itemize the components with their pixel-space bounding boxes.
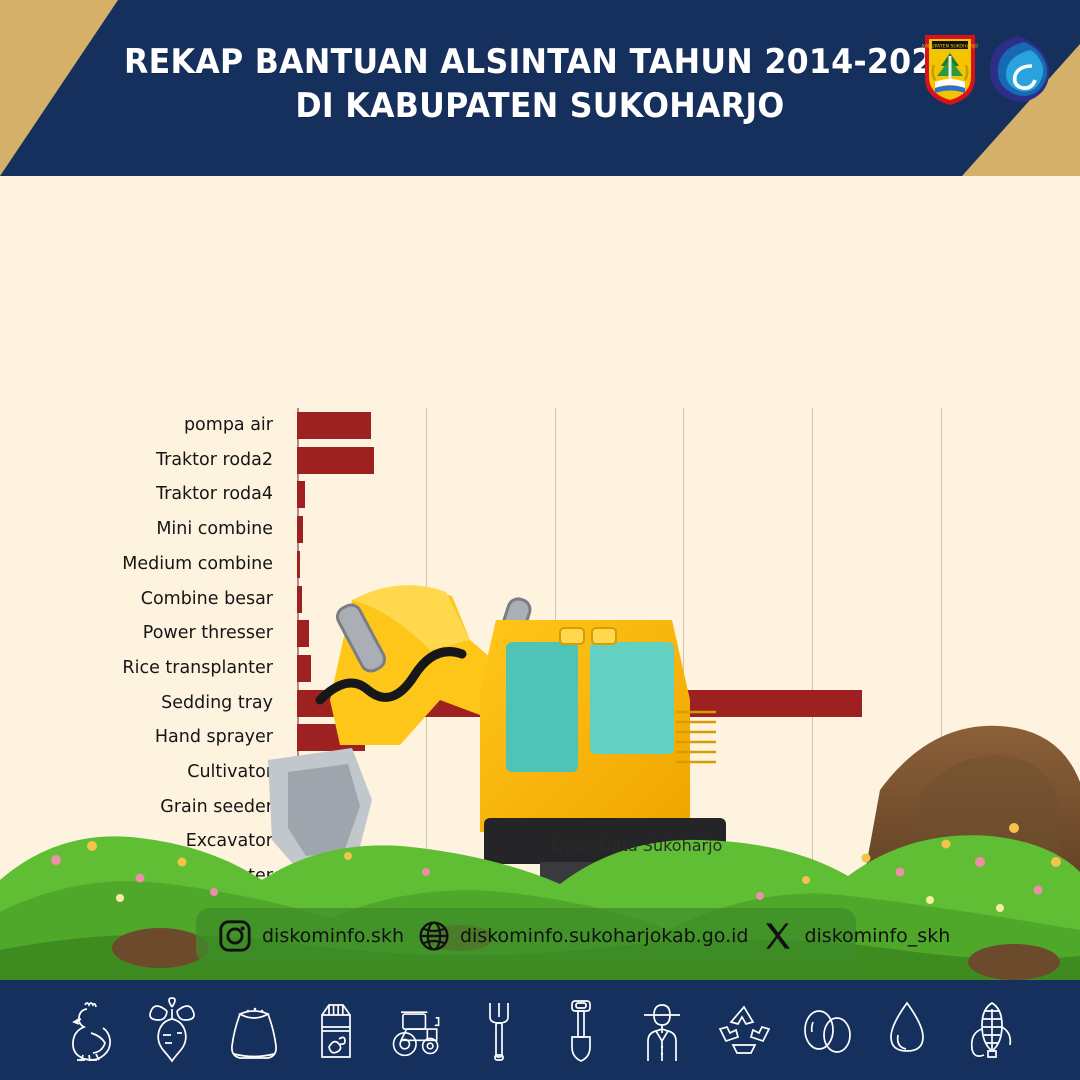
- bar: [297, 724, 365, 751]
- bar-row: Hand sprayer: [297, 720, 977, 755]
- bar: [297, 551, 300, 578]
- pitchfork-icon: [468, 994, 530, 1066]
- footer-icon-strip: [0, 980, 1080, 1080]
- category-label: Sedding tray: [0, 686, 285, 721]
- svg-text:KABUPATEN SUKOHARJO: KABUPATEN SUKOHARJO: [922, 44, 978, 50]
- header-navy-shape: [0, 0, 1080, 176]
- category-label: Traktor roda4: [0, 477, 285, 512]
- chicken-icon: [60, 994, 122, 1066]
- instagram-icon: [218, 919, 252, 953]
- chart-region: pompa airTraktor roda2Traktor roda4Mini …: [0, 176, 1080, 856]
- category-label: Riding rice transplanter: [0, 859, 285, 894]
- social-item-x[interactable]: diskominfo_skh: [762, 920, 950, 952]
- sukoharjo-regency-emblem-icon: KABUPATEN SUKOHARJO: [922, 32, 978, 108]
- grain-sack-icon: [223, 994, 285, 1066]
- tractor-icon: [386, 994, 448, 1066]
- bar: [297, 481, 305, 508]
- corn-icon: [958, 994, 1020, 1066]
- header-logos: KABUPATEN SUKOHARJO: [922, 28, 1062, 112]
- category-label: pompa air: [0, 408, 285, 443]
- bar: [297, 516, 303, 543]
- bar: [297, 586, 302, 613]
- bar-row: Traktor roda2: [297, 443, 977, 478]
- beetroot-icon: [141, 994, 203, 1066]
- category-label: Cultivator: [0, 755, 285, 790]
- social-links-bar: diskominfo.skh diskominfo.sukoharjokab.g…: [196, 908, 856, 964]
- bar: [297, 655, 311, 682]
- globe-icon: [418, 920, 450, 952]
- x-twitter-icon: [762, 920, 794, 952]
- infographic-canvas: pompa airTraktor roda2Traktor roda4Mini …: [0, 0, 1080, 1080]
- social-label-instagram: diskominfo.skh: [262, 925, 404, 947]
- category-label: Hand sprayer: [0, 720, 285, 755]
- bar: [297, 620, 309, 647]
- social-item-instagram[interactable]: diskominfo.skh: [218, 919, 404, 953]
- category-label: Excavator: [0, 824, 285, 859]
- bar-row: Mini combine: [297, 512, 977, 547]
- bar: [297, 412, 371, 439]
- bar-row: Cultivator: [297, 755, 977, 790]
- header-banner: REKAP BANTUAN ALSINTAN TAHUN 2014-2024 D…: [0, 0, 1080, 176]
- bar-row: Riding rice transplanter: [297, 859, 977, 894]
- water-drop-icon: [876, 994, 938, 1066]
- eggs-icon: [795, 994, 857, 1066]
- bar-row: Rice transplanter: [297, 651, 977, 686]
- bar-row: Sedding tray: [297, 686, 977, 721]
- bar: [297, 447, 374, 474]
- farmer-icon: [631, 994, 693, 1066]
- social-item-website[interactable]: diskominfo.sukoharjokab.go.id: [418, 920, 748, 952]
- bar-row: pompa air: [297, 408, 977, 443]
- category-label: Traktor roda2: [0, 443, 285, 478]
- category-label: Mini combine: [0, 512, 285, 547]
- bar-row: Grain seeder: [297, 790, 977, 825]
- social-label-website: diskominfo.sukoharjokab.go.id: [460, 925, 748, 947]
- bar-chart-plot: pompa airTraktor roda2Traktor roda4Mini …: [297, 408, 977, 978]
- bar-row: Medium combine: [297, 547, 977, 582]
- bar-row: Traktor roda4: [297, 477, 977, 512]
- category-label: Grain seeder: [0, 790, 285, 825]
- bar-row: Power thresser: [297, 616, 977, 651]
- shovel-icon: [550, 994, 612, 1066]
- recycle-icon: [713, 994, 775, 1066]
- bar: [297, 759, 313, 786]
- kominfo-logo-icon: [984, 34, 1054, 106]
- social-label-x: diskominfo_skh: [804, 925, 950, 947]
- milk-carton-icon: [305, 994, 367, 1066]
- category-label: Combine besar: [0, 582, 285, 617]
- watermark-text: Open Data Sukoharjo: [297, 836, 977, 855]
- bar-row: Combine besar: [297, 582, 977, 617]
- category-label: Power thresser: [0, 616, 285, 651]
- category-label: Rice transplanter: [0, 651, 285, 686]
- bar: [297, 690, 862, 717]
- category-label: Medium combine: [0, 547, 285, 582]
